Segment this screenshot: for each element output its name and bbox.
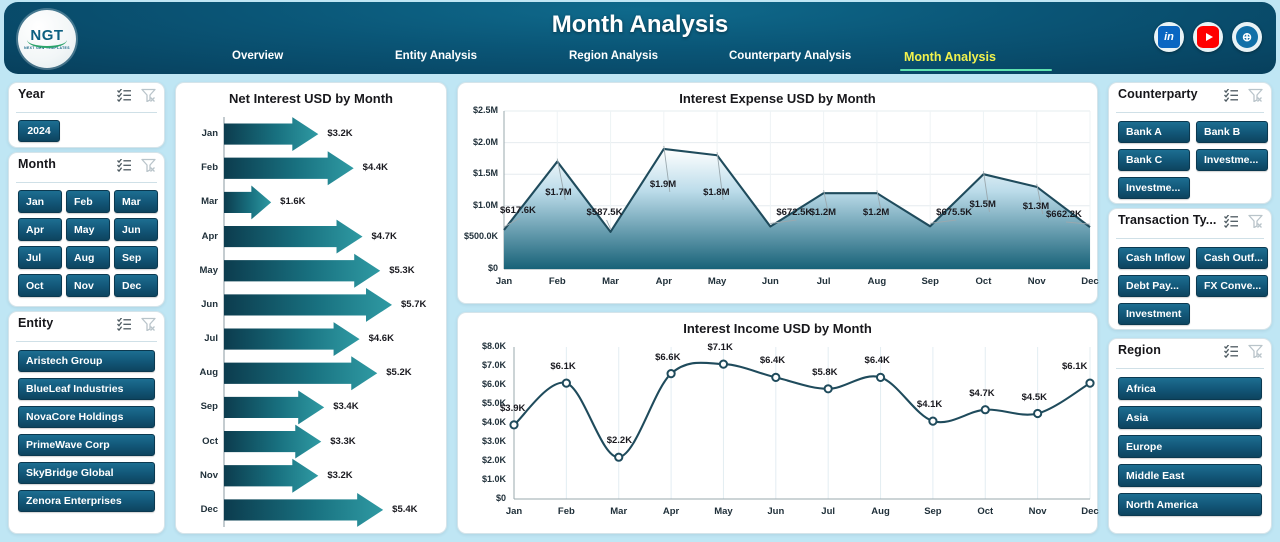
region-chip-3[interactable]: Middle East [1118, 464, 1262, 487]
net-interest-category-may: May [182, 265, 218, 276]
income-marker-dec [1086, 380, 1093, 387]
slicer-header: Entity [9, 312, 164, 338]
net-interest-category-jan: Jan [182, 128, 218, 139]
expense-value-feb: $1.7M [545, 187, 571, 198]
income-value-feb: $6.1K [550, 361, 575, 372]
net-interest-bar-aug [224, 356, 377, 390]
clear-filter-icon[interactable] [141, 88, 156, 102]
income-category-sep: Sep [919, 506, 947, 517]
entity-chip-4[interactable]: SkyBridge Global [18, 462, 155, 484]
entity-chip-list: Aristech GroupBlueLeaf IndustriesNovaCor… [9, 342, 164, 512]
net-interest-category-aug: Aug [182, 367, 218, 378]
income-marker-sep [929, 418, 936, 425]
income-category-nov: Nov [1024, 506, 1052, 517]
net-interest-value-oct: $3.3K [330, 436, 355, 447]
net-interest-bar-sep [224, 390, 324, 424]
income-category-jun: Jun [762, 506, 790, 517]
income-marker-nov [1034, 410, 1041, 417]
expense-value-apr: $1.9M [650, 179, 676, 190]
expense-value-aug: $1.2M [863, 207, 889, 218]
income-marker-mar [615, 454, 622, 461]
income-marker-apr [667, 370, 674, 377]
net-interest-bar-may [224, 254, 380, 288]
month-chip-apr[interactable]: Apr [18, 218, 62, 241]
income-value-dec: $6.1K [1062, 361, 1087, 372]
net-interest-bar-jul [224, 322, 360, 356]
nav-item-counterparty-analysis[interactable]: Counterparty Analysis [729, 50, 851, 62]
net-interest-category-feb: Feb [182, 162, 218, 173]
net-interest-value-jul: $4.6K [369, 333, 394, 344]
slicer-region: RegionAfricaAsiaEuropeMiddle EastNorth A… [1108, 338, 1272, 534]
expense-ytick-4: $2.0M [458, 137, 498, 147]
entity-chip-0[interactable]: Aristech Group [18, 350, 155, 372]
net-interest-value-nov: $3.2K [327, 470, 352, 481]
net-interest-bar-jan [224, 117, 318, 151]
month-chip-jul[interactable]: Jul [18, 246, 62, 269]
year-chip-2024[interactable]: 2024 [18, 120, 60, 142]
net-interest-category-oct: Oct [182, 436, 218, 447]
expense-value-dec: $662.2K [1046, 209, 1082, 220]
income-value-jun: $6.4K [760, 355, 785, 366]
slicer-header: Month [9, 153, 164, 179]
expense-category-aug: Aug [863, 276, 891, 287]
income-category-mar: Mar [605, 506, 633, 517]
net-interest-category-jul: Jul [182, 333, 218, 344]
month-chip-nov[interactable]: Nov [66, 274, 110, 297]
expense-ytick-0: $0 [458, 263, 498, 273]
expense-ytick-3: $1.5M [458, 168, 498, 178]
slicer-icon-group [1224, 344, 1263, 358]
net-interest-value-mar: $1.6K [280, 196, 305, 207]
income-ytick-6: $6.0K [458, 379, 506, 389]
expense-category-sep: Sep [916, 276, 944, 287]
multi-select-icon[interactable] [1224, 89, 1239, 102]
chart-card-net-interest: Net Interest USD by MonthJan$3.2KFeb$4.4… [175, 82, 447, 534]
expense-category-oct: Oct [969, 276, 997, 287]
dashboard-page: NGT NEXT GEN TEMPLATES Month Analysis Ov… [0, 0, 1280, 542]
net-interest-value-sep: $3.4K [333, 401, 358, 412]
transaction-type-chip-3[interactable]: FX Conve... [1196, 275, 1268, 297]
income-value-may: $7.1K [707, 342, 732, 353]
counterparty-chip-4[interactable]: Investme... [1118, 177, 1190, 199]
income-marker-jun [772, 374, 779, 381]
income-value-aug: $6.4K [865, 355, 890, 366]
month-chip-aug[interactable]: Aug [66, 246, 110, 269]
income-value-apr: $6.6K [655, 352, 680, 363]
net-interest-value-feb: $4.4K [363, 162, 388, 173]
slicer-header: Region [1109, 339, 1271, 365]
multi-select-icon[interactable] [1224, 345, 1239, 358]
net-interest-category-jun: Jun [182, 299, 218, 310]
expense-value-jan: $617.6K [500, 205, 536, 216]
entity-chip-3[interactable]: PrimeWave Corp [18, 434, 155, 456]
region-chip-2[interactable]: Europe [1118, 435, 1262, 458]
transaction-type-chip-2[interactable]: Debt Pay... [1118, 275, 1190, 297]
expense-value-mar: $587.5K [587, 207, 623, 218]
slicer-header: Year [9, 83, 164, 109]
month-chip-sep[interactable]: Sep [114, 246, 158, 269]
month-chip-oct[interactable]: Oct [18, 274, 62, 297]
clear-filter-icon[interactable] [1248, 88, 1263, 102]
counterparty-chip-3[interactable]: Investme... [1196, 149, 1268, 171]
net-interest-bar-feb [224, 151, 354, 185]
expense-value-jun: $672.5K [776, 207, 812, 218]
income-ytick-2: $2.0K [458, 455, 506, 465]
month-chip-grid: JanFebMarAprMayJunJulAugSepOctNovDec [9, 183, 164, 297]
income-value-jan: $3.9K [500, 403, 525, 414]
net-interest-category-apr: Apr [182, 231, 218, 242]
expense-ytick-2: $1.0M [458, 200, 498, 210]
expense-value-may: $1.8M [703, 187, 729, 198]
expense-category-nov: Nov [1023, 276, 1051, 287]
transaction-type-chip-0[interactable]: Cash Inflow [1118, 247, 1190, 269]
month-chip-may[interactable]: May [66, 218, 110, 241]
main-nav: Overview Entity Analysis Region Analysis… [164, 50, 1064, 72]
net-interest-bar-nov [224, 459, 318, 493]
youtube-icon[interactable] [1193, 22, 1223, 52]
net-interest-value-dec: $5.4K [392, 504, 417, 515]
counterparty-chip-0[interactable]: Bank A [1118, 121, 1190, 143]
net-interest-bar-apr [224, 220, 363, 254]
net-interest-category-sep: Sep [182, 401, 218, 412]
net-interest-category-mar: Mar [182, 196, 218, 207]
income-marker-jan [510, 421, 517, 428]
counterparty-chip-grid: Bank ABank BBank CInvestme...Investme... [1109, 113, 1271, 199]
website-glyph: ⊕ [1236, 26, 1258, 48]
social-links: in ⊕ [1154, 22, 1262, 52]
expense-category-dec: Dec [1076, 276, 1104, 287]
income-ytick-0: $0 [458, 493, 506, 503]
counterparty-chip-1[interactable]: Bank B [1196, 121, 1268, 143]
income-value-jul: $5.8K [812, 367, 837, 378]
slicer-header: Transaction Ty... [1109, 209, 1271, 235]
expense-category-may: May [703, 276, 731, 287]
nav-active-underline [900, 69, 1052, 71]
chart-card-interest-income: Interest Income USD by Month$0$1.0K$2.0K… [457, 312, 1098, 534]
nav-item-overview[interactable]: Overview [232, 50, 283, 62]
nav-item-month-analysis[interactable]: Month Analysis [904, 50, 996, 64]
linkedin-icon[interactable]: in [1154, 22, 1184, 52]
income-category-apr: Apr [657, 506, 685, 517]
multi-select-icon[interactable] [1224, 215, 1239, 228]
nav-item-region-analysis[interactable]: Region Analysis [569, 50, 658, 62]
clear-filter-icon[interactable] [141, 317, 156, 331]
region-chip-list: AfricaAsiaEuropeMiddle EastNorth America [1109, 369, 1271, 516]
clear-filter-icon[interactable] [141, 158, 156, 172]
slicer-icon-group [117, 158, 156, 172]
income-value-sep: $4.1K [917, 399, 942, 410]
income-line [514, 363, 1090, 458]
expense-value-sep: $675.5K [936, 207, 972, 218]
net-interest-value-jun: $5.7K [401, 299, 426, 310]
income-category-oct: Oct [971, 506, 999, 517]
income-category-jul: Jul [814, 506, 842, 517]
income-marker-aug [877, 374, 884, 381]
net-interest-bar-dec [224, 493, 383, 527]
clear-filter-icon[interactable] [1248, 214, 1263, 228]
net-interest-bar-mar [224, 185, 271, 219]
slicer-year: Year2024 [8, 82, 165, 148]
slicer-month: MonthJanFebMarAprMayJunJulAugSepOctNovDe… [8, 152, 165, 307]
slicer-icon-group [117, 88, 156, 102]
month-chip-dec[interactable]: Dec [114, 274, 158, 297]
income-category-dec: Dec [1076, 506, 1104, 517]
expense-ytick-5: $2.5M [458, 105, 498, 115]
expense-category-feb: Feb [543, 276, 571, 287]
youtube-glyph [1197, 26, 1219, 48]
net-interest-bar-oct [224, 425, 321, 459]
month-chip-feb[interactable]: Feb [66, 190, 110, 213]
multi-select-icon[interactable] [117, 89, 132, 102]
nav-item-entity-analysis[interactable]: Entity Analysis [395, 50, 477, 62]
expense-value-oct: $1.5M [969, 199, 995, 210]
net-interest-category-nov: Nov [182, 470, 218, 481]
region-chip-0[interactable]: Africa [1118, 377, 1262, 400]
expense-category-jun: Jun [756, 276, 784, 287]
transaction-type-chip-4[interactable]: Investment [1118, 303, 1190, 325]
year-chip-list: 2024 [9, 113, 164, 142]
expense-category-jan: Jan [490, 276, 518, 287]
net-interest-bar-jun [224, 288, 392, 322]
net-interest-value-jan: $3.2K [327, 128, 352, 139]
income-ytick-8: $8.0K [458, 341, 506, 351]
income-category-may: May [709, 506, 737, 517]
slicer-icon-group [1224, 88, 1263, 102]
income-category-aug: Aug [867, 506, 895, 517]
entity-chip-2[interactable]: NovaCore Holdings [18, 406, 155, 428]
page-title: Month Analysis [4, 11, 1276, 39]
website-icon[interactable]: ⊕ [1232, 22, 1262, 52]
income-ytick-5: $5.0K [458, 398, 506, 408]
net-interest-value-aug: $5.2K [386, 367, 411, 378]
slicer-icon-group [117, 317, 156, 331]
net-interest-category-dec: Dec [182, 504, 218, 515]
slicer-counterparty: CounterpartyBank ABank BBank CInvestme..… [1108, 82, 1272, 204]
region-chip-4[interactable]: North America [1118, 493, 1262, 516]
month-chip-jan[interactable]: Jan [18, 190, 62, 213]
income-value-nov: $4.5K [1022, 392, 1047, 403]
slicer-entity: EntityAristech GroupBlueLeaf IndustriesN… [8, 311, 165, 534]
income-value-oct: $4.7K [969, 388, 994, 399]
expense-category-jul: Jul [810, 276, 838, 287]
interest-income-chart [458, 313, 1099, 535]
income-marker-may [720, 361, 727, 368]
net-interest-value-may: $5.3K [389, 265, 414, 276]
multi-select-icon[interactable] [117, 318, 132, 331]
slicer-icon-group [1224, 214, 1263, 228]
income-marker-jul [825, 385, 832, 392]
slicer-header: Counterparty [1109, 83, 1271, 109]
net-interest-value-apr: $4.7K [372, 231, 397, 242]
multi-select-icon[interactable] [117, 159, 132, 172]
income-ytick-7: $7.0K [458, 360, 506, 370]
app-header: NGT NEXT GEN TEMPLATES Month Analysis Ov… [4, 2, 1276, 74]
entity-chip-5[interactable]: Zenora Enterprises [18, 490, 155, 512]
income-value-mar: $2.2K [607, 435, 632, 446]
clear-filter-icon[interactable] [1248, 344, 1263, 358]
month-chip-mar[interactable]: Mar [114, 190, 158, 213]
expense-category-apr: Apr [650, 276, 678, 287]
linkedin-glyph: in [1158, 26, 1180, 48]
expense-ytick-1: $500.0K [458, 231, 498, 241]
income-ytick-1: $1.0K [458, 474, 506, 484]
transaction-type-chip-1[interactable]: Cash Outf... [1196, 247, 1268, 269]
counterparty-chip-2[interactable]: Bank C [1118, 149, 1190, 171]
month-chip-jun[interactable]: Jun [114, 218, 158, 241]
income-ytick-4: $4.0K [458, 417, 506, 427]
income-marker-feb [563, 380, 570, 387]
income-category-feb: Feb [552, 506, 580, 517]
region-chip-1[interactable]: Asia [1118, 406, 1262, 429]
chart-card-interest-expense: Interest Expense USD by Month$0$500.0K$1… [457, 82, 1098, 304]
income-ytick-3: $3.0K [458, 436, 506, 446]
income-category-jan: Jan [500, 506, 528, 517]
expense-category-mar: Mar [597, 276, 625, 287]
income-marker-oct [982, 406, 989, 413]
transaction-type-chip-grid: Cash InflowCash Outf...Debt Pay...FX Con… [1109, 239, 1271, 325]
entity-chip-1[interactable]: BlueLeaf Industries [18, 378, 155, 400]
slicer-transaction-type: Transaction Ty...Cash InflowCash Outf...… [1108, 208, 1272, 330]
expense-value-jul: $1.2M [810, 207, 836, 218]
